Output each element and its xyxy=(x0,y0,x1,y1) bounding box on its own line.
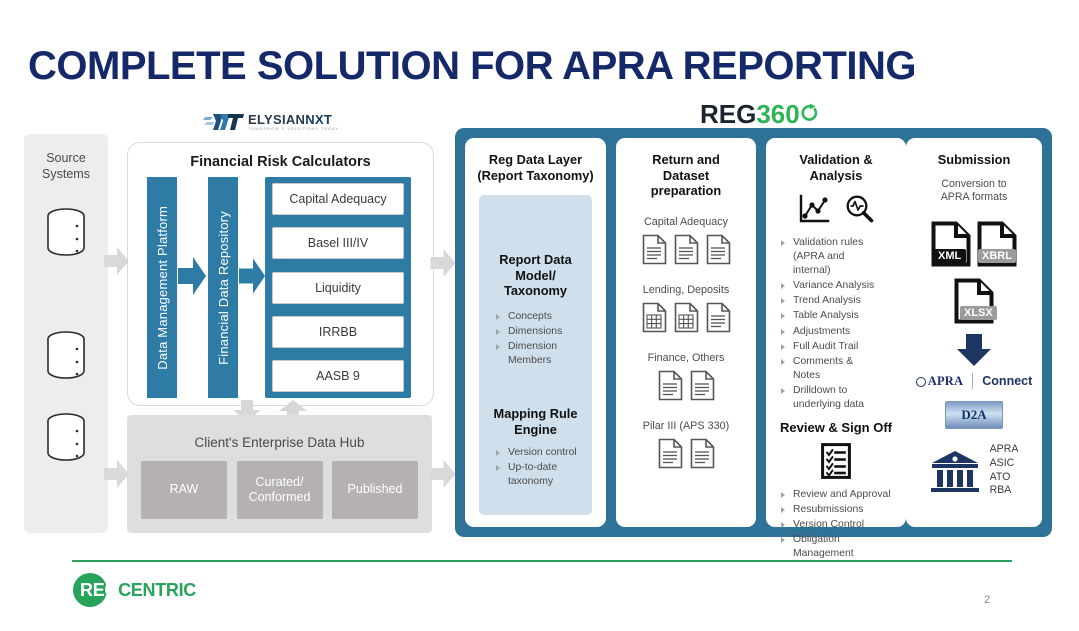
bullet-item: Obligation Management xyxy=(778,533,902,561)
calculator-item[interactable]: Capital Adequacy xyxy=(272,183,404,215)
regcentric-wordmark: REGCENTRIC xyxy=(80,580,196,601)
group-label: Pilar III (APS 330) xyxy=(616,420,756,432)
doc-table-icon[interactable] xyxy=(674,302,699,333)
xlsx-file[interactable]: XLSX xyxy=(954,278,994,329)
bullet-item: Concepts xyxy=(493,310,582,324)
group-pilar-iii: Pilar III (APS 330) xyxy=(616,420,756,469)
regulator-item: RBA xyxy=(990,484,1019,498)
slide-root: COMPLETE SOLUTION FOR APRA REPORTING ELY… xyxy=(0,0,1079,631)
hub-box-raw[interactable]: RAW xyxy=(141,461,227,519)
doc-lines-icon[interactable] xyxy=(658,370,683,401)
bullet-item: Resubmissions xyxy=(778,503,902,517)
elysiannxt-logo: ELYSIANNXT TOMORROW'S SOLUTIONS TODAY xyxy=(203,108,351,136)
document-row xyxy=(616,370,756,401)
d2a-logo[interactable]: D2A xyxy=(945,401,1003,429)
validation-icon-row xyxy=(766,194,906,224)
format-row-top: XML XBRL xyxy=(906,221,1042,272)
doc-lines-icon[interactable] xyxy=(706,234,731,265)
elysiannxt-mark-icon xyxy=(203,111,245,133)
xbrl-file[interactable]: XBRL xyxy=(977,221,1017,272)
down-arrow-icon xyxy=(956,334,992,367)
bullet-item: Variance Analysis xyxy=(778,279,898,293)
xbrl-badge: XBRL xyxy=(978,249,1016,263)
connect-wordmark: Connect xyxy=(982,374,1032,388)
panel-submission-title: Submission xyxy=(906,152,1042,168)
regulator-item: APRA xyxy=(990,443,1019,457)
panel-return-dataset-prep: Return and Dataset preparation Capital A… xyxy=(616,138,756,527)
line-chart-icon xyxy=(798,194,830,224)
group-finance-others: Finance, Others xyxy=(616,352,756,401)
checklist-icon-wrap xyxy=(766,443,906,479)
reg360-prefix: REG xyxy=(700,99,756,130)
doc-lines-icon[interactable] xyxy=(674,234,699,265)
elysiannxt-wordmark: ELYSIANNXT TOMORROW'S SOLUTIONS TODAY xyxy=(248,113,339,132)
magnifier-pulse-icon xyxy=(844,194,874,224)
p1s1-h1: Report Data xyxy=(499,252,572,267)
source-systems-panel: Source Systems xyxy=(24,134,108,533)
document-row xyxy=(616,302,756,333)
xml-file[interactable]: XML xyxy=(931,221,971,272)
flow-arrow-right-icon xyxy=(430,247,457,279)
p1s1-h2: Model/ xyxy=(515,268,556,283)
elysian-name-main: ELYSIAN xyxy=(248,112,305,127)
data-management-platform-label: Data Management Platform xyxy=(155,206,170,370)
database-icon xyxy=(41,411,91,469)
bullet-item: Version Control xyxy=(778,518,902,532)
footer-divider xyxy=(72,560,1012,562)
doc-lines-icon[interactable] xyxy=(690,438,715,469)
report-data-model-bullets: Concepts Dimensions Dimension Members xyxy=(493,310,582,368)
group-label: Finance, Others xyxy=(616,352,756,364)
apra-connect-logo: APRA Connect xyxy=(906,373,1042,389)
regcentric-lead: REG xyxy=(80,580,118,600)
elysian-name-accent: NXT xyxy=(305,112,332,127)
hub-box-row: RAW Curated/ Conformed Published xyxy=(141,461,418,519)
blue-arrow-right-icon xyxy=(239,255,266,297)
xlsx-badge: XLSX xyxy=(960,306,997,320)
p1s1-h3: Taxonomy xyxy=(504,283,567,298)
p3-title-line1: Validation & xyxy=(799,152,872,167)
panel-return-prep-title: Return and Dataset preparation xyxy=(616,152,756,199)
flow-arrow-right-icon xyxy=(430,458,457,490)
reg360-logo: REG360 xyxy=(700,100,818,128)
bullet-item: Comments & Notes xyxy=(778,355,898,383)
panel-submission: Submission Conversion to APRA formats XM… xyxy=(906,138,1042,527)
hub-box-curated[interactable]: Curated/ Conformed xyxy=(237,461,323,519)
hub-box-curated-line1: Curated/ xyxy=(256,475,304,489)
validation-bullets: Validation rules (APRA and internal) Var… xyxy=(778,236,898,412)
mapping-rule-engine-heading: Mapping Rule Engine xyxy=(479,406,592,437)
submission-subtitle: Conversion to APRA formats xyxy=(906,178,1042,206)
calculator-item[interactable]: IRRBB xyxy=(272,316,404,348)
hub-box-published[interactable]: Published xyxy=(332,461,418,519)
p1s2-h2: Engine xyxy=(514,422,557,437)
hub-box-curated-line2: Conformed xyxy=(249,490,311,504)
data-management-platform-bar: Data Management Platform xyxy=(147,177,177,398)
regulators-row: APRA ASIC ATO RBA xyxy=(906,443,1042,498)
bullet-item: Adjustments xyxy=(778,325,898,339)
doc-lines-icon[interactable] xyxy=(690,370,715,401)
bullet-item: Version control xyxy=(493,446,584,460)
panel-reg-data-layer-title: Reg Data Layer (Report Taxonomy) xyxy=(465,152,606,183)
database-icon xyxy=(41,329,91,387)
document-row xyxy=(616,234,756,265)
document-row xyxy=(616,438,756,469)
calculator-item[interactable]: Basel III/IV xyxy=(272,227,404,259)
panel-validation-title: Validation & Analysis xyxy=(766,152,906,183)
xml-badge: XML xyxy=(933,249,966,263)
doc-lines-icon[interactable] xyxy=(706,302,731,333)
group-label: Capital Adequacy xyxy=(616,216,756,228)
checklist-icon xyxy=(821,443,851,479)
regulator-list: APRA ASIC ATO RBA xyxy=(990,443,1019,498)
regcentric-logo: REGCENTRIC xyxy=(73,573,196,607)
report-data-model-heading: Report Data Model/ Taxonomy xyxy=(479,252,592,299)
p3-title-line2: Analysis xyxy=(810,168,863,183)
p2-title-line1: Return and xyxy=(652,152,720,167)
bullet-item: Trend Analysis xyxy=(778,294,898,308)
source-label-line1: Source xyxy=(46,151,86,165)
page-title: COMPLETE SOLUTION FOR APRA REPORTING xyxy=(28,44,916,89)
frc-title: Financial Risk Calculators xyxy=(128,154,433,170)
enterprise-data-hub: Client's Enterprise Data Hub RAW Curated… xyxy=(127,415,432,533)
doc-lines-icon[interactable] xyxy=(642,234,667,265)
calculator-list: Capital Adequacy Basel III/IV Liquidity … xyxy=(265,177,411,398)
financial-data-repository-label: Financial Data Repository xyxy=(216,211,231,365)
review-signoff-heading: Review & Sign Off xyxy=(766,420,906,435)
panel-reg-data-layer: Reg Data Layer (Report Taxonomy) Report … xyxy=(465,138,606,527)
refresh-arc-icon xyxy=(801,103,818,125)
regulator-item: ASIC xyxy=(990,457,1019,471)
elysian-tagline: TOMORROW'S SOLUTIONS TODAY xyxy=(248,128,339,132)
regulator-item: ATO xyxy=(990,471,1019,485)
source-systems-label: Source Systems xyxy=(24,151,108,182)
report-taxonomy-box: Report Data Model/ Taxonomy Concepts Dim… xyxy=(479,195,592,515)
bullet-item: Dimension Members xyxy=(493,340,582,368)
mapping-rule-engine-bullets: Version control Up-to-date taxonomy xyxy=(493,446,584,489)
bullet-item: Drilldown to underlying data xyxy=(778,384,898,412)
financial-data-repository-bar: Financial Data Repository xyxy=(208,177,238,398)
hub-title: Client's Enterprise Data Hub xyxy=(127,435,432,450)
calculator-item[interactable]: Liquidity xyxy=(272,272,404,304)
reg360-container: Reg Data Layer (Report Taxonomy) Report … xyxy=(455,128,1052,537)
p4-sub-line2: APRA formats xyxy=(941,191,1008,203)
panel1-title-line2: (Report Taxonomy) xyxy=(477,168,593,183)
bullet-item: Full Audit Trail xyxy=(778,340,898,354)
p2-title-line2: Dataset xyxy=(663,168,709,183)
bullet-item: Dimensions xyxy=(493,325,582,339)
bullet-item: Validation rules (APRA and internal) xyxy=(778,236,898,278)
p2-title-line3: preparation xyxy=(651,183,721,198)
calculator-item[interactable]: AASB 9 xyxy=(272,360,404,392)
format-row-bottom: XLSX xyxy=(906,278,1042,329)
panel1-title-line1: Reg Data Layer xyxy=(489,152,582,167)
signoff-bullets: Review and Approval Resubmissions Versio… xyxy=(778,488,902,561)
page-number: 2 xyxy=(984,594,990,606)
doc-lines-icon[interactable] xyxy=(658,438,683,469)
group-lending-deposits: Lending, Deposits xyxy=(616,284,756,333)
divider xyxy=(972,373,973,389)
apra-wordmark: APRA xyxy=(916,374,964,389)
bank-icon xyxy=(930,449,980,493)
panel-validation-analysis: Validation & Analysis Validation rules (… xyxy=(766,138,906,527)
group-capital-adequacy: Capital Adequacy xyxy=(616,216,756,265)
bullet-item: Review and Approval xyxy=(778,488,902,502)
database-icon xyxy=(41,206,91,264)
down-arrow-wrap xyxy=(906,334,1042,367)
d2a-label: D2A xyxy=(961,407,986,423)
flow-arrow-right-icon xyxy=(104,458,130,490)
bullet-item: Up-to-date taxonomy xyxy=(493,461,584,489)
source-label-line2: Systems xyxy=(42,167,90,181)
bullet-item: Table Analysis xyxy=(778,309,898,323)
doc-table-icon[interactable] xyxy=(642,302,667,333)
p1s2-h1: Mapping Rule xyxy=(494,406,578,421)
regcentric-rest: CENTRIC xyxy=(118,580,196,600)
apra-o-icon xyxy=(916,377,926,387)
group-label: Lending, Deposits xyxy=(616,284,756,296)
blue-arrow-right-icon xyxy=(178,255,207,297)
p4-sub-line1: Conversion to xyxy=(941,178,1006,190)
reg360-suffix: 360 xyxy=(756,99,799,130)
